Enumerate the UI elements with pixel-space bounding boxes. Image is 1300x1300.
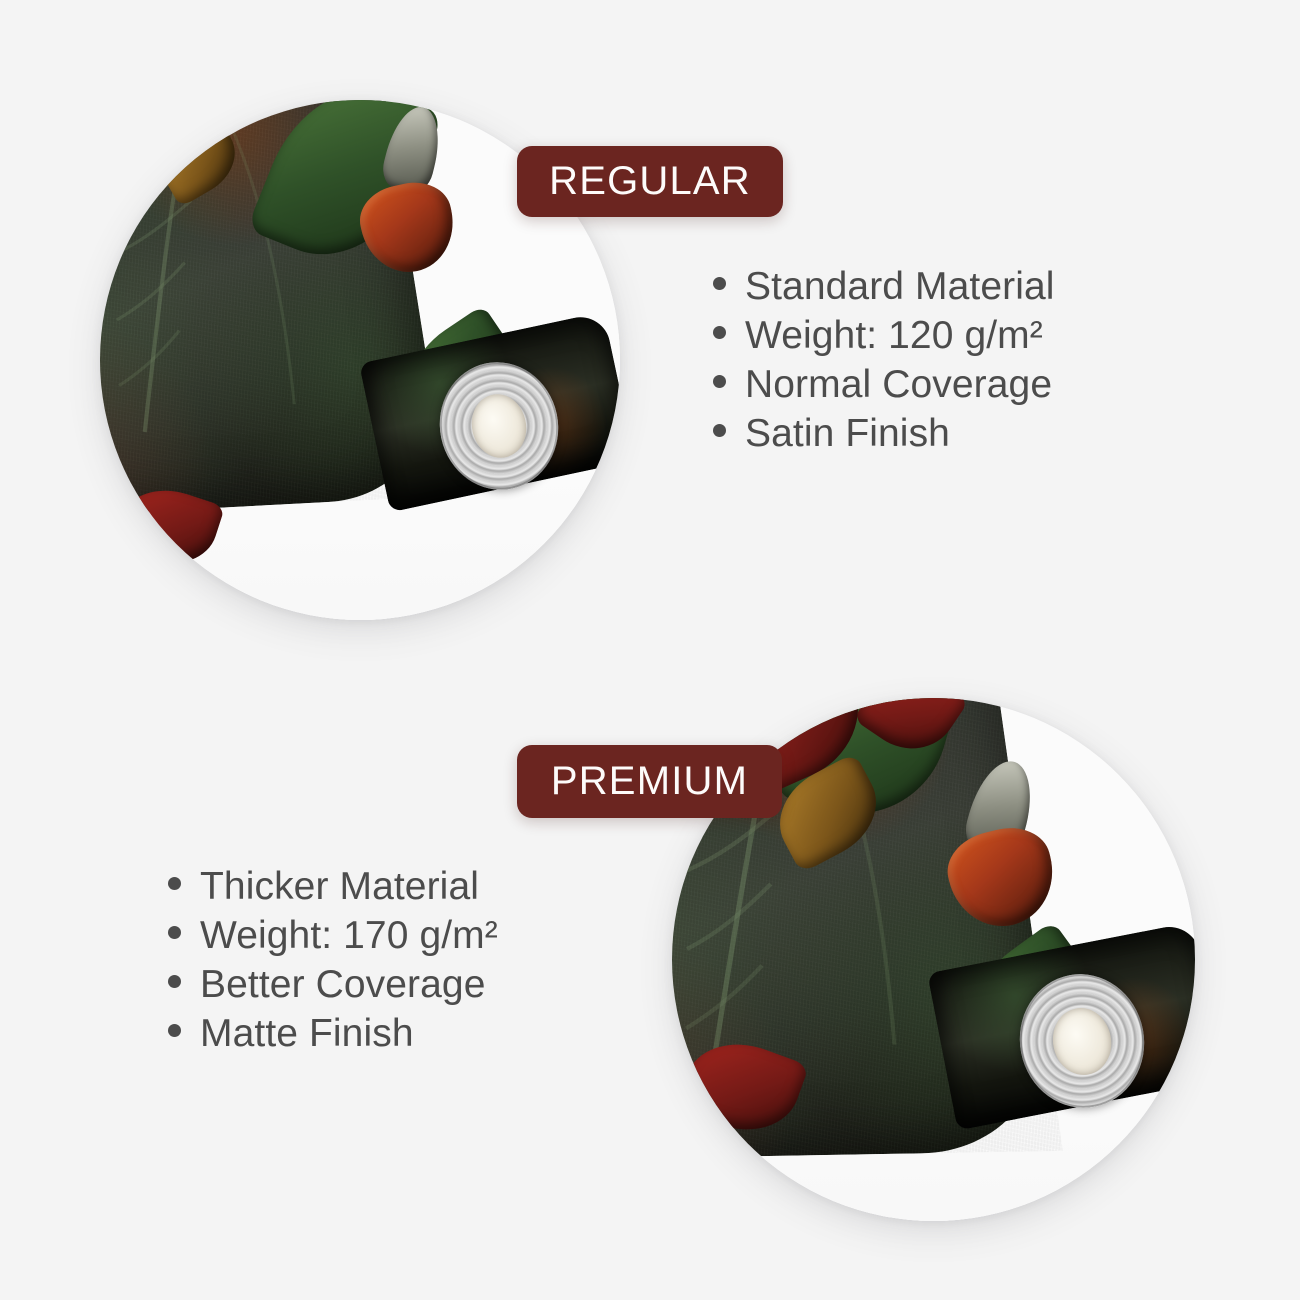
list-item: Normal Coverage	[713, 360, 1055, 409]
list-item: Weight: 170 g/m²	[168, 911, 498, 960]
list-item: Matte Finish	[168, 1009, 498, 1058]
bullet-icon	[168, 975, 181, 988]
feature-text: Weight: 170 g/m²	[200, 911, 498, 960]
feature-text: Matte Finish	[200, 1009, 414, 1058]
bullet-icon	[168, 926, 181, 939]
badge-premium: PREMIUM	[517, 745, 782, 818]
badge-regular: REGULAR	[517, 146, 783, 217]
bullet-icon	[713, 326, 726, 339]
feature-text: Normal Coverage	[745, 360, 1052, 409]
feature-list-premium: Thicker Material Weight: 170 g/m² Better…	[168, 862, 498, 1058]
comparison-graphic: REGULAR Standard Material Weight: 120 g/…	[0, 0, 1300, 1300]
feature-text: Weight: 120 g/m²	[745, 311, 1043, 360]
bullet-icon	[713, 277, 726, 290]
feature-text: Better Coverage	[200, 960, 486, 1009]
bullet-icon	[168, 877, 181, 890]
bullet-icon	[713, 375, 726, 388]
bullet-icon	[713, 424, 726, 437]
badge-premium-label: PREMIUM	[551, 759, 748, 804]
badge-regular-label: REGULAR	[549, 159, 751, 204]
list-item: Better Coverage	[168, 960, 498, 1009]
feature-text: Satin Finish	[745, 409, 950, 458]
bullet-icon	[168, 1024, 181, 1037]
feature-list-regular: Standard Material Weight: 120 g/m² Norma…	[713, 262, 1055, 458]
list-item: Satin Finish	[713, 409, 1055, 458]
list-item: Thicker Material	[168, 862, 498, 911]
feature-text: Standard Material	[745, 262, 1055, 311]
feature-text: Thicker Material	[200, 862, 479, 911]
list-item: Weight: 120 g/m²	[713, 311, 1055, 360]
list-item: Standard Material	[713, 262, 1055, 311]
